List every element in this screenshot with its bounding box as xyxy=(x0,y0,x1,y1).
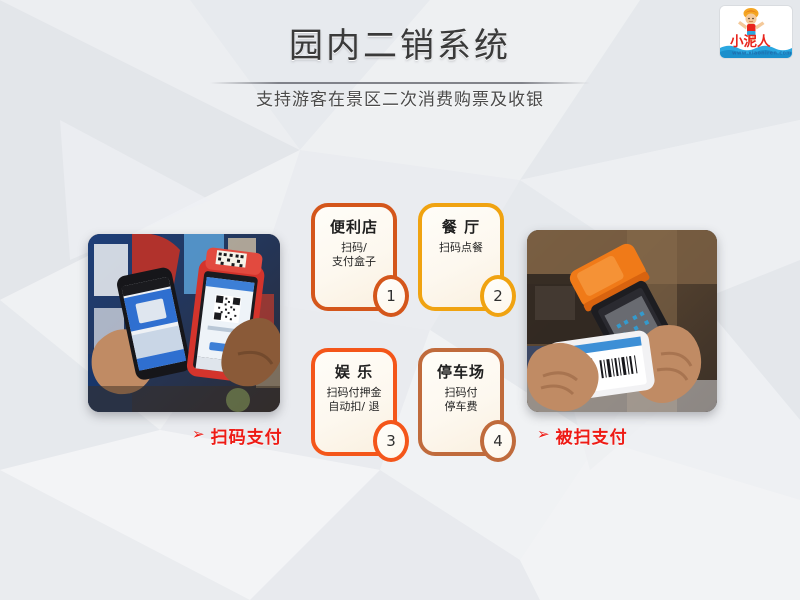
card-subtitle: 扫码/ 支付盒子 xyxy=(332,241,376,269)
card-number-badge: 2 xyxy=(480,275,516,317)
card-subtitle: 扫码付 停车费 xyxy=(445,386,478,414)
card-number-badge: 1 xyxy=(373,275,409,317)
caption-scan-to-pay-label: 扫码支付 xyxy=(211,423,283,448)
card-title: 娱 乐 xyxy=(335,363,373,381)
card-subtitle-line2: 自动扣/ 退 xyxy=(328,400,379,413)
page-title: 园内二销系统 xyxy=(0,24,800,68)
card-subtitle-line2: 停车费 xyxy=(445,400,478,413)
card-restaurant[interactable]: 餐 厅 扫码点餐 2 xyxy=(418,203,504,311)
card-parking-lot[interactable]: 停车场 扫码付 停车费 4 xyxy=(418,348,504,456)
title-divider xyxy=(210,82,590,84)
card-subtitle-line1: 扫码/ xyxy=(341,241,367,254)
card-subtitle-line1: 扫码点餐 xyxy=(439,241,483,254)
card-title: 便利店 xyxy=(330,218,378,236)
card-subtitle-line1: 扫码付 xyxy=(445,386,478,399)
caption-be-scanned-to-pay: ➢ 被扫支付 xyxy=(537,423,628,448)
card-number-badge: 4 xyxy=(480,420,516,462)
page-subtitle: 支持游客在景区二次消费购票及收银 xyxy=(0,88,800,112)
arrow-bullet-icon: ➢ xyxy=(192,427,206,442)
card-title: 停车场 xyxy=(437,363,485,381)
card-number-badge: 3 xyxy=(373,420,409,462)
photo-scan-to-pay xyxy=(88,234,280,412)
card-convenience-store[interactable]: 便利店 扫码/ 支付盒子 1 xyxy=(311,203,397,311)
card-entertainment[interactable]: 娱 乐 扫码付押金 自动扣/ 退 3 xyxy=(311,348,397,456)
card-subtitle: 扫码点餐 xyxy=(439,241,483,255)
card-subtitle-line2: 支付盒子 xyxy=(332,255,376,268)
caption-scan-to-pay: ➢ 扫码支付 xyxy=(192,423,283,448)
slide-canvas: 小泥人 www.xiaoniren.com 园内二销系统 支持游客在景区二次消费… xyxy=(0,0,800,600)
caption-be-scanned-to-pay-label: 被扫支付 xyxy=(556,423,628,448)
card-subtitle: 扫码付押金 自动扣/ 退 xyxy=(327,386,382,414)
card-subtitle-line1: 扫码付押金 xyxy=(327,386,382,399)
card-title: 餐 厅 xyxy=(442,218,480,236)
photo-be-scanned-to-pay xyxy=(527,230,717,412)
arrow-bullet-icon: ➢ xyxy=(537,427,551,442)
